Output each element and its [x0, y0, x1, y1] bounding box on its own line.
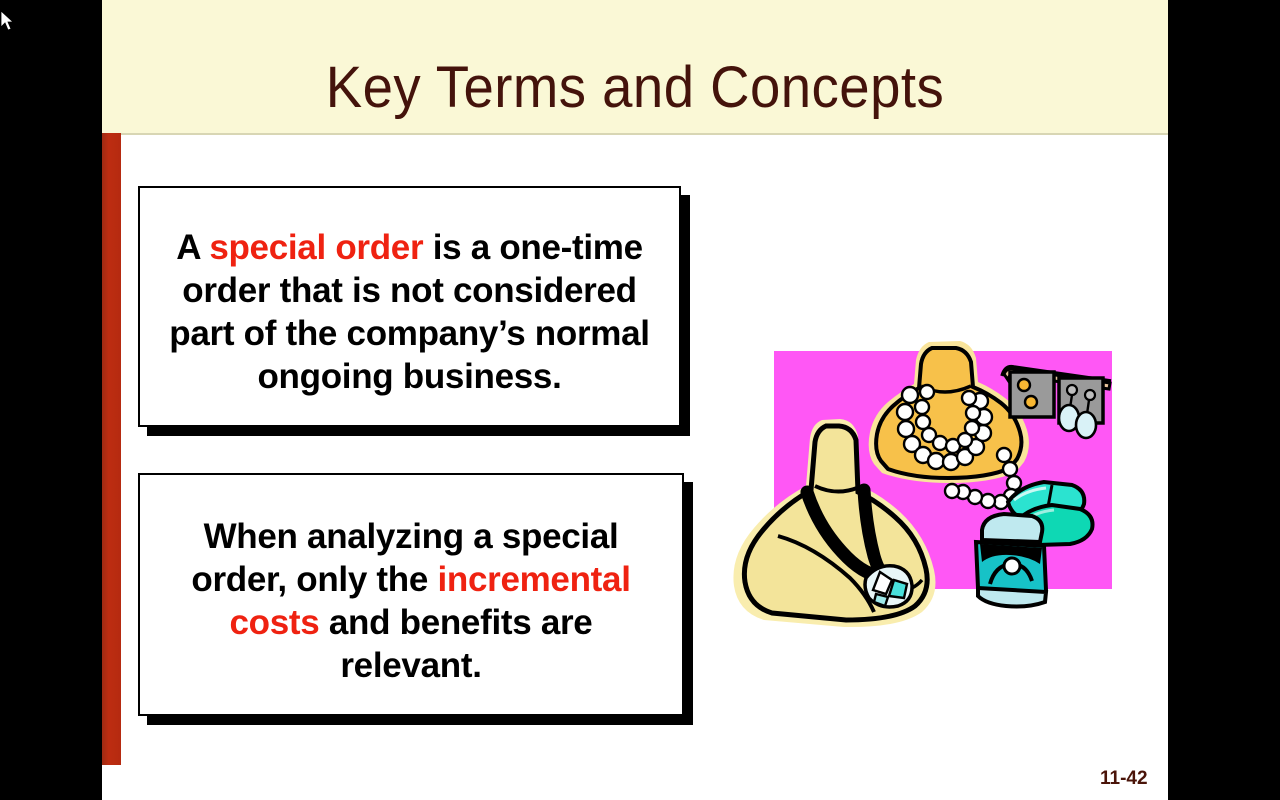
- callout-text-2: When analyzing a special order, only the…: [140, 475, 682, 687]
- page-title: Key Terms and Concepts: [134, 56, 1136, 120]
- callout-box-special-order: A special order is a one-time order that…: [138, 186, 681, 427]
- page-number: 11-42: [1100, 768, 1148, 790]
- jewelry-display-clipart: [714, 340, 1134, 630]
- gem-pendant: [865, 566, 912, 607]
- callout-box-incremental-costs: When analyzing a special order, only the…: [138, 473, 684, 716]
- callout-1-segment-0: A: [176, 228, 209, 267]
- slide-title-band: Key Terms and Concepts: [102, 0, 1168, 135]
- ring-box: [976, 514, 1046, 607]
- callout-2-segment-2: and benefits are relevant.: [319, 603, 592, 685]
- callout-1-highlight: special order: [209, 228, 423, 267]
- callout-text-1: A special order is a one-time order that…: [140, 188, 679, 398]
- left-accent-bar: [102, 133, 121, 765]
- slide-stage: Key Terms and Concepts A special order i…: [0, 0, 1280, 800]
- mouse-pointer-icon: [0, 10, 14, 32]
